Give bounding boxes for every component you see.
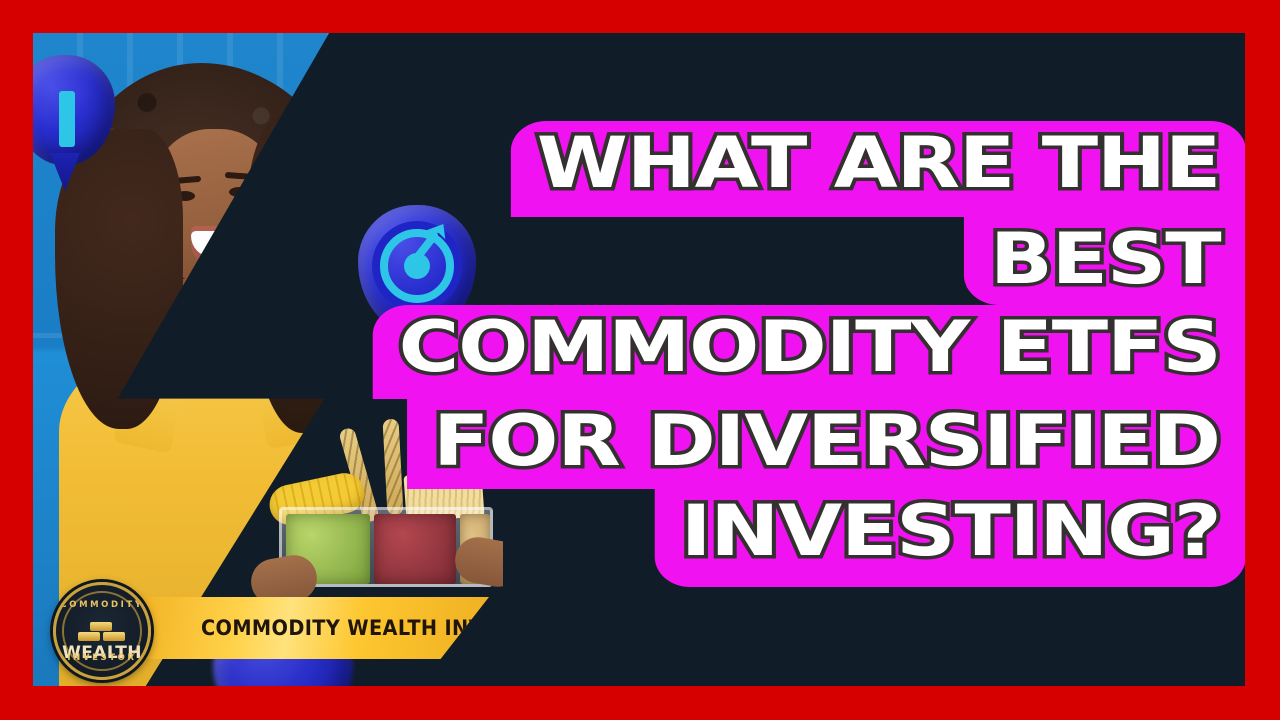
thumbnail-canvas: WHAT ARE THE BEST COMMODITY ETFS FOR DIV…	[0, 0, 1280, 720]
target-rings	[380, 229, 454, 303]
logo-arc-bottom: INVESTOR	[56, 653, 148, 663]
headline-line-1: WHAT ARE THE	[511, 121, 1245, 217]
headline-line-5: INVESTING?	[654, 489, 1245, 587]
logo-arc-top: COMMODITY	[56, 600, 148, 610]
brand-bar: COMMODITY WEALTH INVESTOR	[143, 597, 489, 659]
headline-line-2: BEST	[964, 217, 1245, 305]
content-stage: WHAT ARE THE BEST COMMODITY ETFS FOR DIV…	[33, 33, 1245, 686]
headline-line-4: FOR DIVERSIFIED	[407, 399, 1245, 489]
gold-bars-icon	[76, 622, 128, 642]
logo-badge: COMMODITY WEALTH INVESTOR	[53, 582, 151, 680]
red-beans	[374, 514, 456, 584]
brand-bar-label: COMMODITY WEALTH INVESTOR	[201, 616, 557, 640]
wheat-stalk	[382, 419, 403, 516]
grain-tray	[255, 421, 503, 611]
headline-line-3: COMMODITY ETFS	[372, 305, 1245, 399]
pin-glyph	[59, 91, 75, 147]
